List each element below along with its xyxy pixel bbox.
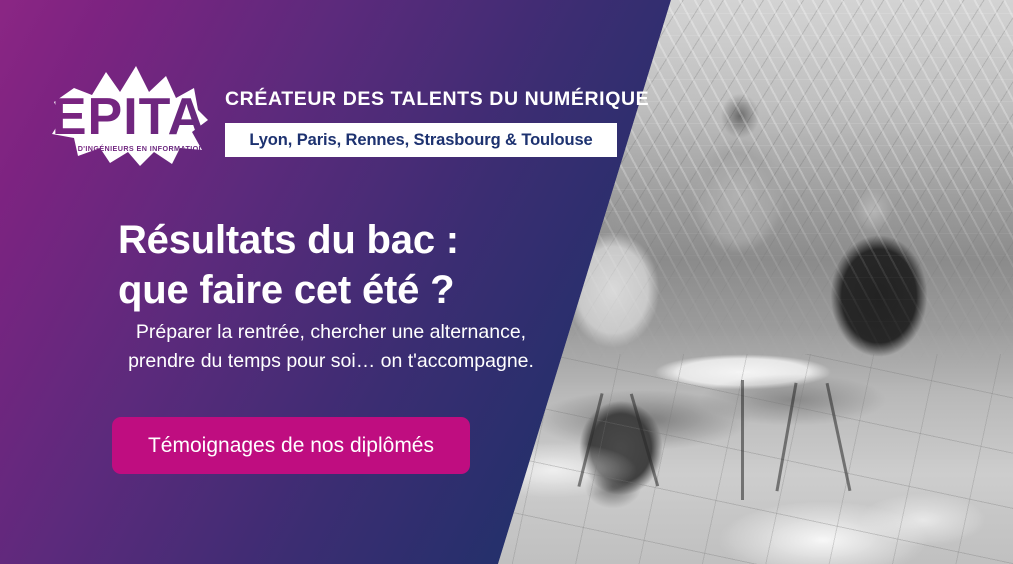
brand-tagline: CRÉATEUR DES TALENTS DU NUMÉRIQUE bbox=[225, 88, 649, 111]
page-title: Résultats du bac : que faire cet été ? bbox=[118, 215, 638, 315]
campus-cities-box: Lyon, Paris, Rennes, Strasbourg & Toulou… bbox=[225, 123, 617, 157]
table-leg bbox=[741, 380, 744, 500]
subcopy-line-1: Préparer la rentrée, chercher une altern… bbox=[66, 318, 596, 347]
epita-hero-banner: EPITA ÉCOLE D'INGÉNIEURS EN INFORMATIQUE… bbox=[0, 0, 1013, 564]
hero-subcopy: Préparer la rentrée, chercher une altern… bbox=[66, 318, 596, 376]
headline-line-2: que faire cet été ? bbox=[118, 265, 638, 315]
testimonials-cta-button[interactable]: Témoignages de nos diplômés bbox=[112, 417, 470, 474]
epita-logo[interactable]: EPITA ÉCOLE D'INGÉNIEURS EN INFORMATIQUE bbox=[48, 62, 210, 172]
hero-content: EPITA ÉCOLE D'INGÉNIEURS EN INFORMATIQUE… bbox=[0, 0, 660, 564]
logo-splash-shape bbox=[52, 66, 208, 166]
subcopy-line-2: prendre du temps pour soi… on t'accompag… bbox=[66, 347, 596, 376]
headline-line-1: Résultats du bac : bbox=[118, 218, 459, 262]
campus-cities-label: Lyon, Paris, Rennes, Strasbourg & Toulou… bbox=[249, 131, 592, 150]
